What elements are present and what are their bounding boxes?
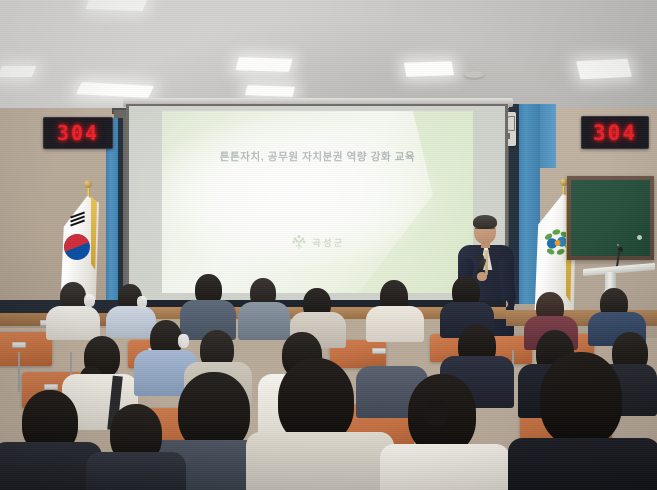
led-digits-left: 304 — [57, 121, 99, 145]
led-display-left: 304 — [43, 117, 113, 149]
slide-title: 튼튼자치, 공무원 자치분권 역량 강화 교육 — [162, 149, 473, 164]
presentation-slide: 튼튼자치, 공무원 자치분권 역량 강화 교육 곡성군 — [162, 111, 473, 293]
audience-body — [246, 432, 394, 490]
pillar-right-upper — [540, 104, 556, 168]
led-digits-right: 304 — [593, 121, 637, 145]
audience-body — [380, 444, 510, 490]
ceiling-light-panel — [245, 85, 295, 97]
chair-writing-tablet[interactable] — [12, 342, 26, 348]
face-mask — [84, 294, 95, 307]
slide-logo: 곡성군 — [162, 233, 473, 251]
chalk-mark — [637, 235, 642, 240]
face-mask — [137, 296, 147, 308]
flag-finial-left — [84, 180, 92, 188]
speaker-glasses — [475, 228, 495, 233]
speaker-hair — [473, 215, 497, 229]
projection-screen: 튼튼자치, 공무원 자치분권 역량 강화 교육 곡성군 — [129, 106, 505, 307]
pillar-left-edge — [118, 118, 123, 300]
slide-diagonal-accent — [330, 111, 473, 293]
led-display-right: 304 — [581, 116, 649, 149]
ceiling-light-panel — [235, 57, 292, 72]
ceiling-light-panel — [0, 66, 36, 77]
slide-logo-text: 곡성군 — [312, 236, 344, 249]
speaker-hand-holding-mic — [477, 272, 487, 281]
auditorium-chair[interactable] — [0, 332, 52, 366]
tree-emblem-icon — [290, 233, 308, 251]
audience-body — [106, 306, 156, 338]
audience-body — [86, 452, 186, 490]
speaker-mic-head-icon — [477, 254, 484, 261]
chalkboard-frame — [567, 176, 654, 260]
chalk-mark — [617, 244, 619, 246]
hair-bun — [424, 400, 450, 426]
audience-body — [238, 302, 290, 340]
face-mask — [178, 334, 189, 348]
green-chalkboard — [571, 180, 650, 256]
lecture-hall-photo: 304 304 튼튼자치, 공무원 자치분권 역량 강화 교육 — [0, 0, 657, 490]
ceiling-light-panel — [576, 59, 632, 80]
chair-leg — [18, 352, 20, 392]
smoke-detector-icon — [464, 71, 484, 78]
audience-body — [46, 306, 100, 340]
ceiling-light-panel — [404, 61, 454, 77]
audience-body — [508, 438, 657, 490]
audience-head — [540, 352, 622, 446]
